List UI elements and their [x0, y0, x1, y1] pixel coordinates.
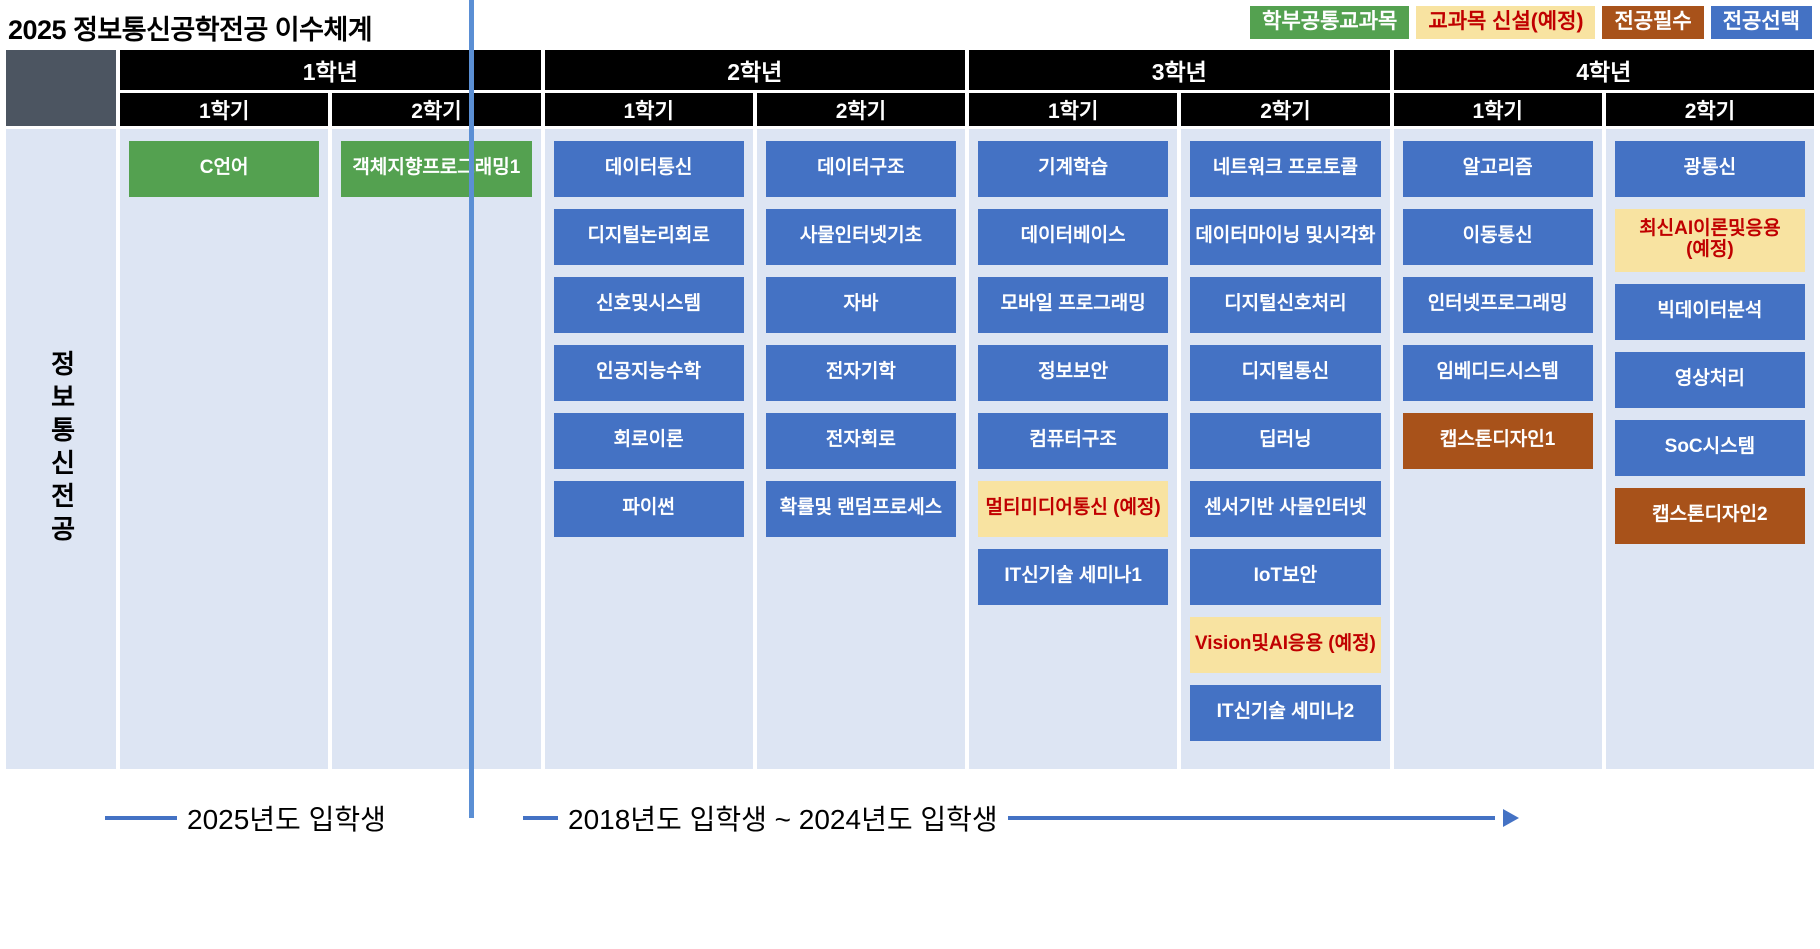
course-box[interactable]: 광통신: [1615, 141, 1805, 197]
course-box[interactable]: 데이터통신: [554, 141, 744, 197]
course-box[interactable]: 전자회로: [766, 413, 956, 469]
course-box[interactable]: 멀티미디어통신 (예정): [978, 481, 1168, 537]
legend-item-new: 교과목 신설(예정): [1416, 6, 1595, 39]
semester-column-7: 알고리즘이동통신인터넷프로그래밍임베디드시스템캡스톤디자인1: [1394, 129, 1602, 769]
course-box[interactable]: 임베디드시스템: [1403, 345, 1593, 401]
course-box[interactable]: 객체지향프로그래밍1: [341, 141, 531, 197]
course-box[interactable]: 캡스톤디자인2: [1615, 488, 1805, 544]
semester-column-4: 데이터구조사물인터넷기초자바전자기학전자회로확률및 랜덤프로세스: [757, 129, 965, 769]
semester-header-8: 2학기: [1606, 93, 1814, 126]
course-box[interactable]: 딥러닝: [1190, 413, 1380, 469]
curriculum-grid: 1학년2학년3학년4학년 1학기2학기1학기2학기1학기2학기1학기2학기 정보…: [6, 50, 1814, 769]
legend-item-common: 학부공통교과목: [1250, 6, 1409, 39]
course-box[interactable]: 최신AI이론및응용 (예정): [1615, 209, 1805, 272]
semester-header-6: 2학기: [1181, 93, 1389, 126]
legend: 학부공통교과목교과목 신설(예정)전공필수전공선택: [1250, 6, 1812, 39]
course-box[interactable]: 사물인터넷기초: [766, 209, 956, 265]
track-label: 정보통신전공: [47, 350, 74, 548]
arrow-right-icon: [1503, 809, 1519, 827]
course-box[interactable]: 파이썬: [554, 481, 744, 537]
semester-column-1: C언어: [120, 129, 328, 769]
grid-corner-cell: [6, 50, 116, 126]
course-box[interactable]: Vision및AI응용 (예정): [1190, 617, 1380, 673]
course-box[interactable]: 전자기학: [766, 345, 956, 401]
semester-header-7: 1학기: [1394, 93, 1602, 126]
course-box[interactable]: 인공지능수학: [554, 345, 744, 401]
course-box[interactable]: 인터넷프로그래밍: [1403, 277, 1593, 333]
course-box[interactable]: 이동통신: [1403, 209, 1593, 265]
semester-header-5: 1학기: [969, 93, 1177, 126]
course-box[interactable]: 데이터마이닝 및시각화: [1190, 209, 1380, 265]
course-box[interactable]: 네트워크 프로토콜: [1190, 141, 1380, 197]
course-box[interactable]: 디지털신호처리: [1190, 277, 1380, 333]
course-box[interactable]: 신호및시스템: [554, 277, 744, 333]
footer-right-rule-right: [1008, 816, 1495, 820]
course-box[interactable]: IT신기술 세미나1: [978, 549, 1168, 605]
footer-right-rule-left: [523, 816, 558, 820]
course-box[interactable]: 빅데이터분석: [1615, 284, 1805, 340]
course-box[interactable]: 정보보안: [978, 345, 1168, 401]
course-box[interactable]: 데이터구조: [766, 141, 956, 197]
legend-item-required: 전공필수: [1602, 6, 1703, 39]
semester-column-2: 객체지향프로그래밍1: [332, 129, 540, 769]
page-title: 2025 정보통신공학전공 이수체계: [8, 8, 372, 47]
footer-left-note: 2025년도 입학생: [187, 798, 386, 838]
course-box[interactable]: 기계학습: [978, 141, 1168, 197]
semester-header-2: 2학기: [332, 93, 540, 126]
course-box[interactable]: 확률및 랜덤프로세스: [766, 481, 956, 537]
semester-column-5: 기계학습데이터베이스모바일 프로그래밍정보보안컴퓨터구조멀티미디어통신 (예정)…: [969, 129, 1177, 769]
course-box[interactable]: 디지털통신: [1190, 345, 1380, 401]
course-box[interactable]: 센서기반 사물인터넷: [1190, 481, 1380, 537]
course-box[interactable]: 자바: [766, 277, 956, 333]
course-box[interactable]: IT신기술 세미나2: [1190, 685, 1380, 741]
semester-column-3: 데이터통신디지털논리회로신호및시스템인공지능수학회로이론파이썬: [545, 129, 753, 769]
course-box[interactable]: 회로이론: [554, 413, 744, 469]
course-box[interactable]: 영상처리: [1615, 352, 1805, 408]
track-cell: 정보통신전공: [6, 129, 116, 769]
course-box[interactable]: C언어: [129, 141, 319, 197]
cohort-divider: [469, 0, 474, 818]
year-header-3: 3학년: [969, 50, 1390, 90]
course-box[interactable]: 모바일 프로그래밍: [978, 277, 1168, 333]
footer-left-group: 2025년도 입학생: [105, 798, 386, 838]
footer-right-note: 2018년도 입학생 ~ 2024년도 입학생: [568, 798, 998, 838]
course-box[interactable]: 데이터베이스: [978, 209, 1168, 265]
semester-header-3: 1학기: [545, 93, 753, 126]
footer-left-rule: [105, 816, 177, 820]
course-box[interactable]: IoT보안: [1190, 549, 1380, 605]
year-header-2: 2학년: [545, 50, 966, 90]
year-header-4: 4학년: [1394, 50, 1815, 90]
year-header-1: 1학년: [120, 50, 541, 90]
footer: 2025년도 입학생 2018년도 입학생 ~ 2024년도 입학생: [0, 770, 1820, 949]
curriculum-diagram: 2025 정보통신공학전공 이수체계 학부공통교과목교과목 신설(예정)전공필수…: [0, 0, 1820, 949]
semester-header-4: 2학기: [757, 93, 965, 126]
course-box[interactable]: 디지털논리회로: [554, 209, 744, 265]
course-box[interactable]: 알고리즘: [1403, 141, 1593, 197]
course-box[interactable]: SoC시스템: [1615, 420, 1805, 476]
legend-item-elective: 전공선택: [1711, 6, 1812, 39]
course-box[interactable]: 컴퓨터구조: [978, 413, 1168, 469]
course-box[interactable]: 캡스톤디자인1: [1403, 413, 1593, 469]
semester-header-1: 1학기: [120, 93, 328, 126]
semester-column-8: 광통신최신AI이론및응용 (예정)빅데이터분석영상처리SoC시스템캡스톤디자인2: [1606, 129, 1814, 769]
semester-column-6: 네트워크 프로토콜데이터마이닝 및시각화디지털신호처리디지털통신딥러닝센서기반 …: [1181, 129, 1389, 769]
footer-right-group: 2018년도 입학생 ~ 2024년도 입학생: [523, 798, 1519, 838]
